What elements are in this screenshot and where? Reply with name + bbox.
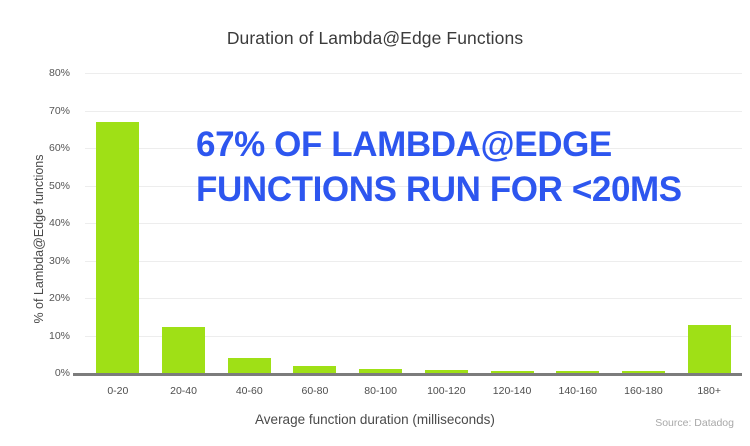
bar [162,327,205,373]
source-note: Source: Datadog [655,417,734,429]
chart-title: Duration of Lambda@Edge Functions [0,28,750,49]
y-axis-tick-label: 80% [12,67,70,79]
y-axis-tick-label: 20% [12,292,70,304]
bar [228,358,271,373]
x-axis-tick-label: 60-80 [302,385,329,397]
y-axis-tick-label: 60% [12,142,70,154]
x-axis-tick-label: 160-180 [624,385,663,397]
x-axis-title: Average function duration (milliseconds) [0,412,750,427]
x-axis-line [73,373,742,376]
bar [688,325,731,373]
x-axis-tick-label: 0-20 [107,385,128,397]
y-axis-tick-label: 30% [12,255,70,267]
y-axis-tick-label: 10% [12,330,70,342]
bar-series [85,73,742,373]
x-axis-tick-label: 100-120 [427,385,466,397]
x-axis-tick-label: 40-60 [236,385,263,397]
chart-container: Duration of Lambda@Edge Functions % of L… [0,0,750,446]
bar [96,122,139,373]
y-axis-tick-label: 70% [12,105,70,117]
x-axis-tick-label: 180+ [697,385,721,397]
y-axis-tick-label: 50% [12,180,70,192]
annotation-line: FUNCTIONS RUN FOR <20MS [196,167,726,212]
y-axis-tick-label: 40% [12,217,70,229]
plot-area: 0%10%20%30%40%50%60%70%80% 0-2020-4040-6… [85,73,742,373]
annotation-line: 67% OF LAMBDA@EDGE [196,122,726,167]
bar [293,366,336,374]
x-axis-tick-label: 20-40 [170,385,197,397]
x-axis-tick-label: 140-160 [558,385,597,397]
x-axis-tick-label: 120-140 [493,385,532,397]
y-axis-tick-label: 0% [12,367,70,379]
x-axis-tick-label: 80-100 [364,385,397,397]
callout-annotation: 67% OF LAMBDA@EDGEFUNCTIONS RUN FOR <20M… [196,122,726,212]
